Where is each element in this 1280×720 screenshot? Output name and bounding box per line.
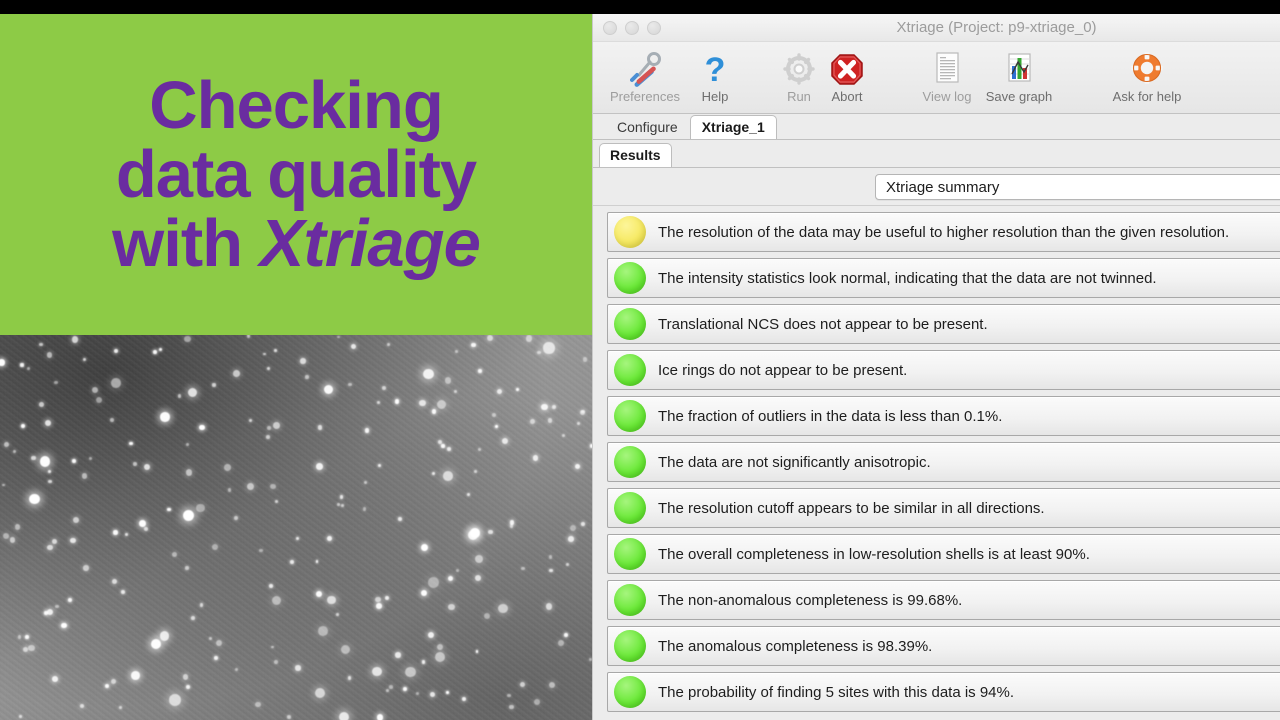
diffraction-spot [271,646,274,649]
diffraction-spot [395,399,399,403]
result-row-text: The intensity statistics look normal, in… [658,270,1157,287]
diffraction-spot [471,343,475,347]
diffraction-spot [20,363,23,366]
diffraction-spot [318,626,328,636]
diffraction-spot [214,656,218,660]
diffraction-spot [183,674,188,679]
diffraction-spot [564,633,568,637]
diffraction-spot [185,566,189,570]
result-row-text: Translational NCS does not appear to be … [658,316,988,333]
diffraction-spot [498,604,507,613]
diffraction-spot [577,422,580,425]
preferences-icon [625,44,665,88]
diffraction-spot [566,563,569,566]
diffraction-spot [348,676,352,680]
diffraction-spot [224,464,231,471]
result-row-text: Ice rings do not appear to be present. [658,362,907,379]
summary-selector-strip: Xtriage summary [593,168,1280,206]
diffraction-spot [558,640,564,646]
view-log-icon [927,44,967,88]
diffraction-spot [2,484,5,487]
result-row[interactable]: Translational NCS does not appear to be … [607,304,1280,344]
diffraction-spot [275,500,278,503]
diffraction-spot [533,455,539,461]
diffraction-spot [121,590,125,594]
diffraction-spot [113,530,117,534]
diffraction-spot [405,667,416,678]
diffraction-spot [478,369,481,372]
diffraction-spot [21,424,25,428]
status-ok-icon [614,400,646,432]
diffraction-spot [534,699,540,705]
diffraction-spot [548,418,553,423]
diffraction-spot [40,456,50,466]
diffraction-spot [377,401,380,404]
diffraction-spot [487,335,493,341]
diffraction-spot [47,609,53,615]
screenshot-root: Checking data quality with Xtriage Xtria… [0,0,1280,720]
diffraction-spot [476,650,479,653]
diffraction-spot [327,536,332,541]
diffraction-spot [543,342,554,353]
diffraction-spot [139,520,146,527]
diffraction-spot [133,462,137,466]
diffraction-spot [4,442,9,447]
diffraction-spot [376,603,382,609]
diffraction-spot [305,375,309,379]
diffraction-spot [541,404,548,411]
diffraction-spot [351,344,356,349]
diffraction-spot [186,469,193,476]
diffraction-spot [54,381,58,385]
diffraction-spot [441,444,444,447]
diffraction-spot [45,420,51,426]
diffraction-spot [80,704,85,709]
toolbar-label-help: Help [702,89,729,104]
diffraction-spot [82,473,88,479]
diffraction-spot [39,343,43,347]
diffraction-spot [131,671,140,680]
diffraction-spot [47,545,53,551]
diffraction-spot [530,419,535,424]
diffraction-spot [549,555,552,558]
diffraction-spot [273,422,280,429]
svg-text:?: ? [705,51,726,88]
diffraction-spot [526,335,532,341]
diffraction-spot [296,537,299,540]
diffraction-spot [581,410,584,413]
diffraction-spot [255,702,261,708]
diffraction-spot [83,358,86,361]
diffraction-spot [509,705,513,709]
status-ok-icon [614,262,646,294]
diffraction-spot [521,567,525,571]
diffraction-spot [167,508,170,511]
diffraction-spot [290,560,294,564]
diffraction-spot [144,464,150,470]
diffraction-spot [183,510,194,521]
result-row-text: The resolution of the data may be useful… [658,224,1229,241]
diffraction-spot [507,694,511,698]
diffraction-spot [295,665,300,670]
diffraction-spot [184,336,190,342]
diffraction-spot [552,405,556,409]
status-ok-icon [614,492,646,524]
diffraction-spot [428,632,434,638]
diffraction-spot [105,684,110,689]
diffraction-spot [200,603,204,607]
diffraction-spot [387,343,390,346]
diffraction-spot [212,544,218,550]
results-list: The resolution of the data may be useful… [593,206,1280,720]
diffraction-spot [583,357,587,361]
diffraction-spot [363,507,367,511]
diffraction-spot [495,425,498,428]
result-row[interactable]: The data are not significantly anisotrop… [607,442,1280,482]
diffraction-spot [48,470,51,473]
diffraction-spot [575,464,580,469]
diffraction-spot [492,413,496,417]
diffraction-spot [421,590,427,596]
diffraction-spot [419,400,425,406]
diffraction-spot [382,386,386,390]
status-ok-icon [614,354,646,386]
diffraction-spot [178,394,182,398]
result-row-text: The overall completeness in low-resoluti… [658,546,1090,563]
diffraction-spot [234,516,238,520]
diffraction-spot [160,412,169,421]
diffraction-spot [315,688,325,698]
diffraction-spot [432,409,437,414]
diffraction-spot [266,435,270,439]
status-ok-icon [614,446,646,478]
diffraction-spot [437,400,446,409]
diffraction-spot [112,579,117,584]
diffraction-spot [336,613,339,616]
diffraction-spot [0,359,5,365]
diffraction-spot [488,530,492,534]
diffraction-spot [581,522,585,526]
diffraction-spot [432,472,435,475]
diffraction-spot [443,471,453,481]
diffraction-spot [516,388,519,391]
status-ok-icon [614,630,646,662]
diffraction-spot [456,569,459,572]
diffraction-spot [39,402,44,407]
result-row[interactable]: The anomalous completeness is 98.39%. [607,626,1280,666]
slide-title-line-1: Checking [149,71,443,140]
diffraction-spot [247,335,250,338]
diffraction-spot [467,493,470,496]
diffraction-spot [341,504,344,507]
diffraction-spot [247,483,254,490]
diffraction-spot [129,442,133,446]
slide-title-line-2: data quality [116,140,476,209]
toolbar-label-view-log: View log [923,89,972,104]
diffraction-spot [372,667,381,676]
status-warning-icon [614,216,646,248]
diffraction-spot [259,549,262,552]
diffraction-spot [468,530,478,540]
toolbar-button-ask-for-help[interactable]: Ask for help [1099,44,1195,104]
diffraction-spot [327,596,336,605]
tab-xtriage-1[interactable]: Xtriage_1 [690,115,777,139]
diffraction-spot [475,555,483,563]
diffraction-spot [416,692,419,695]
diffraction-spot [212,383,215,386]
save-graph-icon [999,44,1039,88]
diffraction-spot [339,712,350,720]
diffraction-spot [72,336,78,342]
diffraction-spot [125,533,128,536]
diffraction-spot [48,480,52,484]
result-row[interactable]: The probability of finding 5 sites with … [607,672,1280,712]
diffraction-spot [510,520,515,525]
diffraction-spots [0,335,592,720]
main-toolbar: Preferences ? Help [593,42,1280,114]
diffraction-spot [502,438,508,444]
diffraction-spot [235,668,238,671]
diffraction-spot [316,463,323,470]
diffraction-spot [92,387,98,393]
diffraction-spot [318,425,322,429]
diffraction-spot [186,443,189,446]
toolbar-button-abort[interactable]: Abort [799,44,895,104]
diffraction-spot [389,685,393,689]
diffraction-spot [144,527,148,531]
tab-configure[interactable]: Configure [605,115,690,139]
diffraction-spot [274,349,277,352]
diffraction-spot [27,367,30,370]
diffraction-spot [169,694,181,706]
result-row[interactable]: The non-anomalous completeness is 99.68%… [607,580,1280,620]
diffraction-spot [199,425,205,431]
diffraction-spot [316,560,319,563]
diffraction-spot [172,552,177,557]
diffraction-spot [287,715,291,719]
diffraction-spot [421,544,428,551]
diffraction-spot [269,584,273,588]
diffraction-spot [68,598,72,602]
result-row-text: The probability of finding 5 sites with … [658,684,1014,701]
diffraction-spot [300,358,305,363]
diffraction-spot [568,536,574,542]
diffraction-spot [423,369,434,380]
diffraction-spot [422,660,426,664]
result-row-text: The non-anomalous completeness is 99.68%… [658,592,962,609]
diffraction-spot [249,419,252,422]
diffraction-spot [55,605,58,608]
diffraction-spot [428,577,439,588]
diffraction-spot [70,538,75,543]
diffraction-spot [549,569,552,572]
result-row[interactable]: Ice rings do not appear to be present. [607,350,1280,390]
diffraction-spot [160,631,169,640]
toolbar-button-save-graph[interactable]: Save graph [971,44,1067,104]
slide-panel: Checking data quality with Xtriage [0,14,592,720]
diffraction-spot [455,350,458,353]
diffraction-spot [478,448,481,451]
diffraction-spot [25,635,29,639]
diffraction-spot [385,596,390,601]
diffraction-spot [52,676,58,682]
diffraction-spot [196,504,205,513]
result-row-text: The data are not significantly anisotrop… [658,454,931,471]
toolbar-label-abort: Abort [831,89,862,104]
diffraction-spot [462,697,466,701]
diffraction-spot [549,682,556,689]
diffraction-spot [47,352,52,357]
result-row-text: The fraction of outliers in the data is … [658,408,1002,425]
diffraction-spot [216,640,222,646]
diffraction-spot [446,691,449,694]
result-row[interactable]: The resolution of the data may be useful… [607,212,1280,252]
diffraction-spot [454,390,457,393]
diffraction-spot [562,434,565,437]
diffraction-spot [10,537,16,543]
diffraction-spot [83,565,89,571]
diffraction-spot [13,450,16,453]
diffraction-spot [316,591,322,597]
diffraction-spot [119,706,122,709]
diffraction-spot [403,687,407,691]
window-titlebar: Xtriage (Project: p9-xtriage_0) [593,14,1280,42]
diffraction-spot [111,679,116,684]
diffraction-spot [263,353,266,356]
diffraction-spot [340,495,343,498]
diffraction-spot [188,388,197,397]
diffraction-spot [395,652,400,657]
status-ok-icon [614,584,646,616]
diffraction-spot [151,639,161,649]
diffraction-spot [274,660,278,664]
tab-results[interactable]: Results [599,143,672,167]
diffraction-spot [324,385,333,394]
diffraction-spot [365,428,370,433]
diffraction-image [0,335,592,720]
result-row-text: The resolution cutoff appears to be simi… [658,500,1045,517]
diffraction-spot [475,575,481,581]
diffraction-spot [89,457,92,460]
toolbar-label-ask-for-help: Ask for help [1113,89,1182,104]
diffraction-spot [72,459,76,463]
diffraction-spot [267,426,271,430]
diffraction-spot [186,685,190,689]
diffraction-spot [364,481,367,484]
diffraction-spot [110,418,114,422]
diffraction-spot [96,397,102,403]
window-title: Xtriage (Project: p9-xtriage_0) [593,19,1280,36]
status-ok-icon [614,676,646,708]
toolbar-button-help[interactable]: ? Help [667,44,763,104]
diffraction-spot [191,616,195,620]
diffraction-spot [386,689,389,692]
diffraction-spot [445,377,451,383]
diffraction-spot [341,645,350,654]
diffraction-spot [497,389,502,394]
diffraction-spot [19,715,22,718]
diffraction-spot [437,644,444,651]
result-row[interactable]: The intensity statistics look normal, in… [607,258,1280,298]
diffraction-spot [209,637,212,640]
help-icon: ? [695,44,735,88]
diffraction-spot [73,517,79,523]
diffraction-spot [448,604,454,610]
diffraction-spot [52,539,57,544]
diffraction-spot [447,447,451,451]
diffraction-spot [430,692,435,697]
diffraction-spot [28,645,35,652]
diffraction-spot [337,336,340,339]
slide-title-app-name: Xtriage [260,206,480,281]
abort-icon [827,44,867,88]
letterbox-bar [0,0,1280,14]
diffraction-spot [15,524,20,529]
result-row[interactable]: The fraction of outliers in the data is … [607,396,1280,436]
result-row-text: The anomalous completeness is 98.39%. [658,638,932,655]
diffraction-spot [159,348,162,351]
diffraction-spot [537,351,541,355]
result-row[interactable]: The overall completeness in low-resoluti… [607,534,1280,574]
diffraction-spot [520,682,525,687]
diffraction-spot [375,597,380,602]
diffraction-spot [570,525,576,531]
diffraction-spot [153,350,157,354]
diffraction-spot [272,596,281,605]
diffraction-spot [31,456,35,460]
lifering-icon [1127,44,1167,88]
diffraction-spot [233,370,240,377]
diffraction-spot [29,494,40,505]
diffraction-spot [474,470,477,473]
diffraction-spot [267,367,270,370]
diffraction-spot [3,533,9,539]
xtriage-summary-select[interactable]: Xtriage summary [875,174,1280,200]
status-ok-icon [614,308,646,340]
main-tab-bar: Configure Xtriage_1 [593,114,1280,140]
diffraction-spot [228,488,231,491]
status-ok-icon [614,538,646,570]
sub-tab-bar: Results [593,140,1280,168]
slide-title-line-3: with Xtriage [112,209,480,278]
diffraction-spot [111,378,121,388]
diffraction-spot [378,464,381,467]
diffraction-spot [546,603,552,609]
diffraction-spot [23,647,28,652]
diffraction-spot [61,623,66,628]
diffraction-spot [18,635,21,638]
diffraction-spot [398,517,402,521]
slide-title-card: Checking data quality with Xtriage [0,14,592,335]
toolbar-label-save-graph: Save graph [986,89,1053,104]
diffraction-spot [377,714,384,720]
xtriage-window: Xtriage (Project: p9-xtriage_0) [592,14,1280,720]
diffraction-spot [270,484,275,489]
slide-title-with: with [112,206,260,281]
diffraction-spot [435,652,445,662]
diffraction-spot [484,613,490,619]
diffraction-spot [337,503,340,506]
diffraction-spot [114,349,118,353]
diffraction-spot [448,576,453,581]
result-row[interactable]: The resolution cutoff appears to be simi… [607,488,1280,528]
diffraction-spot [348,383,352,387]
